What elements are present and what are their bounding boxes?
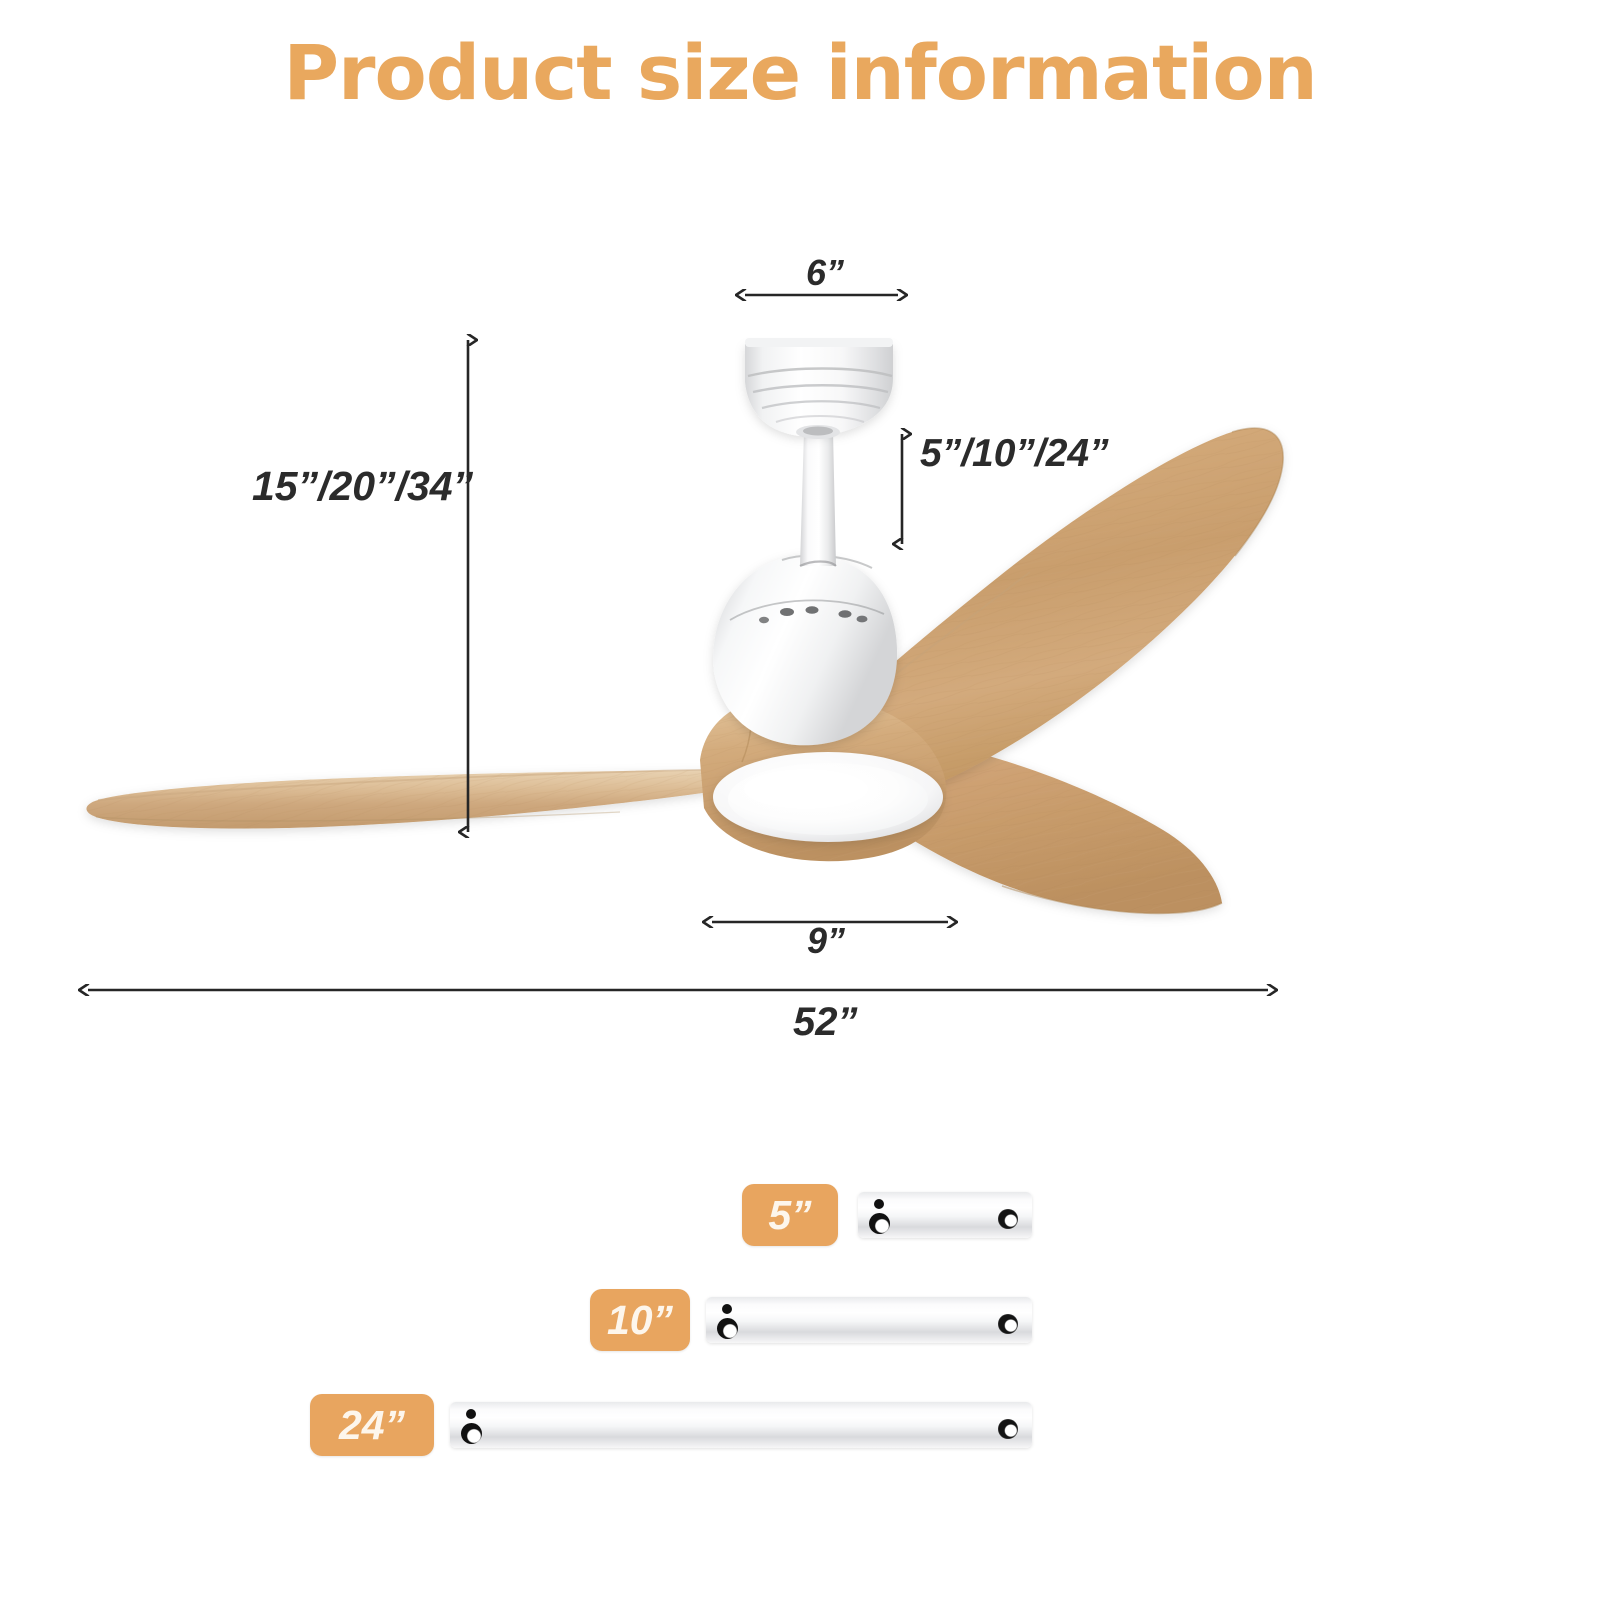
dimension-label-motor-width: 9” (807, 920, 845, 962)
downrod-pin-hole-10-top (722, 1304, 732, 1314)
dimension-label-blade-span: 52” (793, 1000, 858, 1045)
fan-blade-left (86, 770, 760, 829)
downrod-hole-10-left (717, 1318, 738, 1339)
dimension-label-downrod-length: 5”/10”/24” (920, 432, 1109, 476)
downrod-pipe-10 (706, 1297, 1032, 1343)
fan-ceiling-canopy (745, 338, 893, 439)
fan-downrod (800, 432, 836, 566)
downrod-pipe-24 (450, 1402, 1032, 1448)
fan-led-light (713, 752, 943, 842)
product-size-infographic: Product size information (0, 0, 1600, 1600)
downrod-badge-10: 10” (590, 1289, 690, 1351)
downrod-option-row-10: 10” (0, 1285, 1600, 1355)
dimension-label-canopy-width: 6” (806, 252, 844, 294)
downrod-hole-5-left (869, 1213, 890, 1234)
ceiling-fan-illustration (0, 0, 1600, 1600)
downrod-pin-hole-5-top (874, 1199, 884, 1209)
dimension-label-total-height: 15”/20”/34” (252, 463, 473, 510)
fan-motor-housing (713, 555, 897, 745)
downrod-hole-5-right (998, 1209, 1018, 1229)
downrod-hole-10-right (998, 1314, 1018, 1334)
downrod-pin-hole-24-top (466, 1409, 476, 1419)
downrod-hole-24-left (461, 1423, 482, 1444)
downrod-option-row-24: 24” (0, 1390, 1600, 1460)
downrod-badge-24: 24” (310, 1394, 434, 1456)
downrod-pipe-5 (858, 1192, 1032, 1238)
downrod-hole-24-right (998, 1419, 1018, 1439)
downrod-badge-5: 5” (742, 1184, 838, 1246)
downrod-option-row-5: 5” (0, 1180, 1600, 1250)
